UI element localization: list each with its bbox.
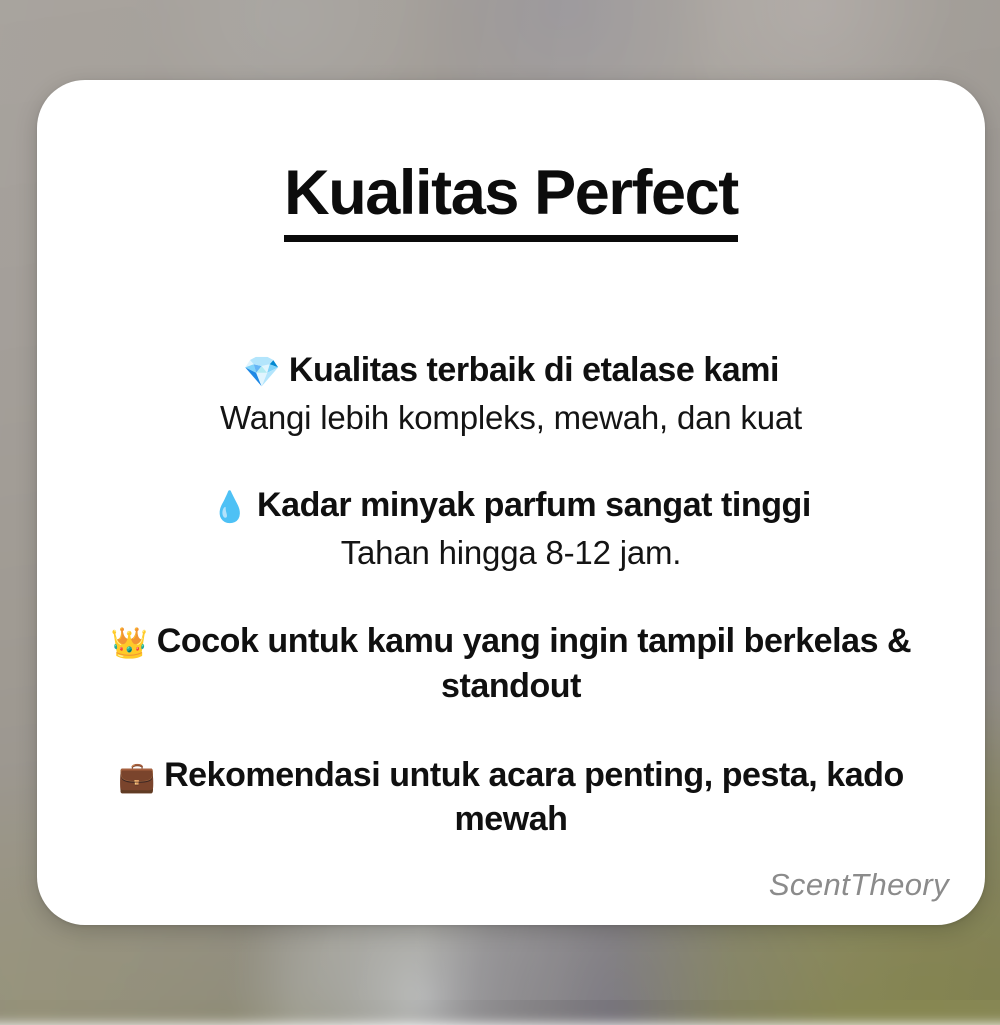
list-item: 💧 Kadar minyak parfum sangat tinggi Taha… bbox=[65, 483, 957, 574]
page-title: Kualitas Perfect bbox=[284, 162, 738, 242]
benefit-headline: 💧 Kadar minyak parfum sangat tinggi bbox=[65, 483, 957, 528]
benefit-headline-text: Cocok untuk kamu yang ingin tampil berke… bbox=[157, 622, 911, 705]
list-item: 💎 Kualitas terbaik di etalase kami Wangi… bbox=[65, 348, 957, 439]
gem-stone-icon: 💎 bbox=[243, 355, 280, 390]
page-title-container: Kualitas Perfect bbox=[37, 162, 985, 242]
list-item: 👑 Cocok untuk kamu yang ingin tampil ber… bbox=[65, 619, 957, 709]
benefit-headline-text: Kadar minyak parfum sangat tinggi bbox=[257, 486, 811, 524]
briefcase-icon: 💼 bbox=[118, 760, 155, 795]
crown-icon: 👑 bbox=[111, 626, 148, 661]
list-item: 💼 Rekomendasi untuk acara penting, pesta… bbox=[65, 753, 957, 843]
droplet-icon: 💧 bbox=[211, 490, 248, 525]
benefit-headline: 💎 Kualitas terbaik di etalase kami bbox=[65, 348, 957, 393]
benefit-headline-text: Kualitas terbaik di etalase kami bbox=[289, 351, 779, 389]
benefit-subline: Wangi lebih kompleks, mewah, dan kuat bbox=[65, 396, 957, 440]
brand-watermark: ScentTheory bbox=[769, 867, 949, 903]
content-card: Kualitas Perfect 💎 Kualitas terbaik di e… bbox=[37, 80, 985, 925]
benefit-headline: 💼 Rekomendasi untuk acara penting, pesta… bbox=[65, 753, 957, 843]
benefit-headline: 👑 Cocok untuk kamu yang ingin tampil ber… bbox=[65, 619, 957, 709]
benefit-headline-text: Rekomendasi untuk acara penting, pesta, … bbox=[164, 756, 904, 839]
benefit-list: 💎 Kualitas terbaik di etalase kami Wangi… bbox=[65, 348, 957, 842]
benefit-subline: Tahan hingga 8-12 jam. bbox=[65, 531, 957, 575]
